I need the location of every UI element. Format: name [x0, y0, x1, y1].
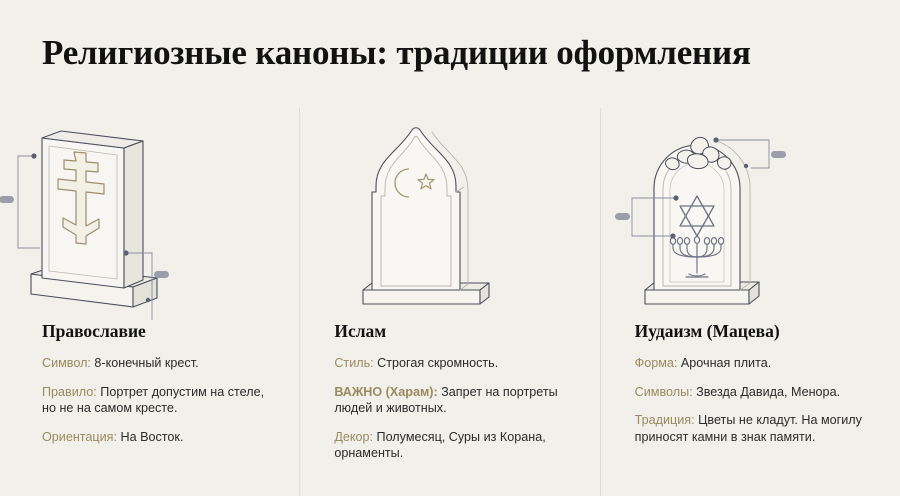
illustration-jewish-matzeva	[601, 108, 900, 320]
annotation-chip	[0, 196, 14, 203]
fact-label: Символ:	[42, 356, 91, 370]
text-block-islam: Ислам Стиль: Строгая скромность. ВАЖНО (…	[300, 320, 599, 462]
fact-label: Декор:	[334, 430, 373, 444]
stele-body	[42, 131, 143, 288]
text-block-orthodoxy: Православие Символ: 8-конечный крест. Пр…	[0, 320, 299, 445]
fact-value: Строгая скромность.	[374, 356, 499, 370]
text-block-judaism: Иудаизм (Мацева) Форма: Арочная плита. С…	[601, 320, 900, 445]
fact-label: Символы:	[635, 385, 693, 399]
fact-row: Стиль: Строгая скромность.	[334, 355, 579, 372]
columns-container: Православие Символ: 8-конечный крест. Пр…	[0, 108, 900, 496]
fact-row: Символ: 8-конечный крест.	[42, 355, 273, 372]
page-title: Религиозные каноны: традиции оформления	[42, 32, 751, 74]
fact-row: Традиция: Цветы не кладут. На могилу при…	[635, 412, 882, 445]
fact-value: Звезда Давида, Менора.	[693, 385, 840, 399]
fact-value: На Восток.	[117, 430, 183, 444]
fact-row: Ориентация: На Восток.	[42, 429, 273, 446]
infographic-page: Религиозные каноны: традиции оформления	[0, 0, 900, 496]
fact-label: Форма:	[635, 356, 678, 370]
fact-row: Правило: Портрет допустим на стеле, но н…	[42, 384, 273, 417]
column-heading: Ислам	[334, 320, 579, 342]
annotation-left	[0, 153, 40, 248]
fact-row: Декор: Полумесяц, Суры из Корана, орнаме…	[334, 429, 579, 462]
annotation-chip	[771, 151, 786, 158]
fact-label: Правило:	[42, 385, 97, 399]
fact-label: ВАЖНО (Харам):	[334, 385, 437, 399]
fact-value: Арочная плита.	[677, 356, 771, 370]
illustration-orthodox-gravestone	[0, 108, 299, 320]
ogee-arch-stele	[372, 128, 468, 290]
column-islam: Ислам Стиль: Строгая скромность. ВАЖНО (…	[299, 108, 599, 496]
fact-label: Традиция:	[635, 413, 695, 427]
column-heading: Иудаизм (Мацева)	[635, 320, 882, 342]
fact-row: Форма: Арочная плита.	[635, 355, 882, 372]
annotation-chip	[615, 213, 630, 220]
fact-row: ВАЖНО (Харам): Запрет на портреты людей …	[334, 384, 579, 417]
column-orthodoxy: Православие Символ: 8-конечный крест. Пр…	[0, 108, 299, 496]
column-heading: Православие	[42, 320, 273, 342]
fact-value: 8-конечный крест.	[91, 356, 199, 370]
illustration-islamic-stele	[300, 108, 599, 320]
column-judaism: Иудаизм (Мацева) Форма: Арочная плита. С…	[600, 108, 900, 496]
fact-label: Стиль:	[334, 356, 373, 370]
annotation-chip	[154, 271, 169, 278]
fact-row: Символы: Звезда Давида, Менора.	[635, 384, 882, 401]
fact-label: Ориентация:	[42, 430, 117, 444]
